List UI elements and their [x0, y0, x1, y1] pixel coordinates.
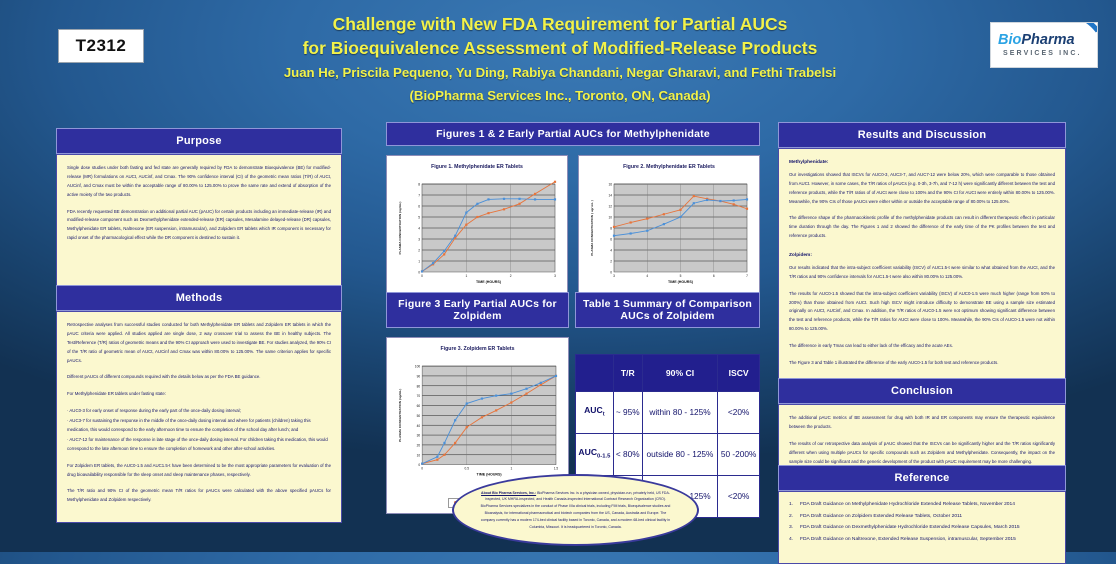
svg-text:6: 6 [713, 274, 715, 278]
logo-wordmark: BioPharma [998, 32, 1075, 48]
svg-text:4: 4 [646, 274, 648, 278]
methods-bullet-2: · AUC3-7 for sustaining the response in … [67, 417, 331, 435]
purpose-panel: Purpose Single dose studies under both f… [56, 128, 342, 293]
results-paragraph-6: The Figure 3 and Table 1 illustrated the… [789, 359, 1055, 368]
svg-text:PLASMA CONCENTRATION (ng/mL): PLASMA CONCENTRATION (ng/mL) [398, 389, 402, 442]
title-block: Challenge with New FDA Requirement for P… [250, 12, 870, 106]
results-panel: Results and Discussion Methylphenidate: … [778, 122, 1066, 411]
svg-text:TIME (HOURS): TIME (HOURS) [477, 473, 503, 477]
svg-text:0: 0 [421, 467, 423, 471]
svg-text:100: 100 [415, 365, 421, 369]
table1-header-tr: T/R [613, 355, 642, 392]
svg-text:4: 4 [418, 227, 420, 231]
svg-text:0: 0 [418, 271, 420, 275]
svg-text:2: 2 [418, 249, 420, 253]
svg-text:PLASMA CONCENTRATION ( ug/ mL: PLASMA CONCENTRATION ( ug/ mL ) [590, 200, 594, 255]
svg-text:6: 6 [418, 205, 420, 209]
reference-item: 4.FDA Draft Guidance on Naltrexone, Exte… [789, 534, 1055, 546]
logo-tagline: SERVICES INC. [1003, 50, 1082, 57]
figure-2-title: Figure 2. Methylphenidate ER Tablets [584, 164, 754, 170]
poster-canvas: T2312 Challenge with New FDA Requirement… [0, 0, 1116, 552]
svg-text:8: 8 [610, 227, 612, 231]
poster-title-line-2: for Bioequivalence Assessment of Modifie… [250, 36, 870, 60]
table-header-row: T/R 90% CI ISCV [576, 355, 760, 392]
svg-text:40: 40 [417, 424, 421, 428]
svg-text:4: 4 [610, 249, 612, 253]
svg-text:3: 3 [613, 274, 615, 278]
methods-panel: Methods Retrospective analyses from succ… [56, 285, 342, 523]
purpose-body: Single dose studies under both fasting a… [56, 154, 342, 293]
svg-text:70: 70 [417, 394, 421, 398]
svg-text:16: 16 [608, 183, 612, 187]
results-paragraph-3: Our results indicated that the intra-sub… [789, 264, 1055, 282]
results-heading: Results and Discussion [778, 122, 1066, 148]
reference-item: 3.FDA Draft Guidance on Dexmethylphenida… [789, 522, 1055, 534]
svg-text:0.5: 0.5 [465, 467, 470, 471]
figures-12-heading: Figures 1 & 2 Early Partial AUCs for Met… [386, 122, 760, 146]
svg-text:14: 14 [608, 194, 612, 198]
table-row: AUC0-1.5< 80%outside 80 - 125%50 -200% [576, 434, 760, 476]
methods-paragraph-1: Retrospective analyses from successful s… [67, 321, 331, 365]
reference-heading: Reference [778, 465, 1066, 491]
author-list: Juan He, Priscila Pequeno, Yu Ding, Rabi… [250, 63, 870, 83]
results-subheading-zolpidem: Zolpidem: [789, 251, 1055, 261]
figure-3-plot: 010203040506070809010000.511.5TIME (HOUR… [392, 354, 563, 495]
svg-text:5: 5 [680, 274, 682, 278]
reference-text: FDA Draft Guidance on Zolpidem Extended … [800, 511, 962, 523]
figure-2-svg: 024681012141634567TIME (HOURS)PLASMA CON… [584, 172, 754, 302]
reference-number: 4. [789, 534, 796, 546]
results-paragraph-1: Our investigations showed that ISCVs for… [789, 171, 1055, 207]
svg-text:10: 10 [608, 216, 612, 220]
svg-text:1: 1 [418, 260, 420, 264]
reference-item: 2.FDA Draft Guidance on Zolpidem Extende… [789, 511, 1055, 523]
reference-text: FDA Draft Guidance on Dexmethylphenidate… [800, 522, 1020, 534]
svg-text:1.5: 1.5 [554, 467, 559, 471]
table1-cell-iscv: <20% [718, 476, 760, 518]
poster-title-line-1: Challenge with New FDA Requirement for P… [250, 12, 870, 36]
table1-header-ci: 90% CI [642, 355, 718, 392]
affiliation: (BioPharma Services Inc., Toronto, ON, C… [250, 86, 870, 106]
methods-paragraph-3: For Methylphenidate ER tablets under fas… [67, 390, 331, 399]
figure-3-title: Figure 3. Zolpidem ER Tablets [392, 346, 563, 352]
reference-number: 1. [789, 499, 796, 511]
table1-cell-ci: within 80 - 125% [642, 392, 718, 434]
figure-3-heading: Figure 3 Early Partial AUCs for Zolpidem [386, 292, 569, 328]
purpose-heading: Purpose [56, 128, 342, 154]
svg-text:50: 50 [417, 414, 421, 418]
results-paragraph-4: The results for AUC0-1.5 showed that the… [789, 290, 1055, 334]
table1-cell-iscv: 50 -200% [718, 434, 760, 476]
purpose-paragraph-2: FDA recently requested BE demonstration … [67, 208, 331, 244]
table1-header-iscv: ISCV [718, 355, 760, 392]
methods-heading: Methods [56, 285, 342, 311]
about-title: About Bio Pharma Services, Inc.: [481, 491, 536, 495]
reference-item: 1.FDA Draft Guidance on Methylphenidate … [789, 499, 1055, 511]
svg-text:3: 3 [418, 238, 420, 242]
results-paragraph-2: The difference shape of the pharmacokine… [789, 214, 1055, 241]
methods-closing-2: The T/R ratio and 90% CI of the geometri… [67, 487, 331, 505]
methods-body: Retrospective analyses from successful s… [56, 311, 342, 523]
svg-text:1: 1 [465, 274, 467, 278]
svg-text:90: 90 [417, 375, 421, 379]
svg-text:60: 60 [417, 404, 421, 408]
methods-paragraph-2: Different pAUCs of different compounds r… [67, 373, 331, 382]
table1-cell-tr: ~ 95% [613, 392, 642, 434]
results-subheading-methylphenidate: Methylphenidate: [789, 158, 1055, 168]
reference-text: FDA Draft Guidance on Methylphenidate Hy… [800, 499, 1015, 511]
svg-text:TIME (HOURS): TIME (HOURS) [668, 280, 694, 284]
svg-text:0: 0 [610, 271, 612, 275]
svg-text:0: 0 [421, 274, 423, 278]
svg-text:20: 20 [417, 444, 421, 448]
svg-text:8: 8 [418, 183, 420, 187]
reference-number: 2. [789, 511, 796, 523]
biopharma-logo: BioPharma SERVICES INC. [990, 22, 1098, 68]
svg-text:PLASMA CONCENTRATION (ng/mL): PLASMA CONCENTRATION (ng/mL) [398, 202, 402, 255]
table1-heading: Table 1 Summary of Comparison AUCs of Zo… [575, 292, 760, 328]
table1-row-label: AUCt [576, 392, 614, 434]
svg-text:2: 2 [510, 274, 512, 278]
svg-text:6: 6 [610, 238, 612, 242]
svg-text:7: 7 [746, 274, 748, 278]
svg-text:30: 30 [417, 434, 421, 438]
logo-bio-text: Bio [998, 32, 1021, 48]
conclusion-heading: Conclusion [778, 378, 1066, 404]
figure-3-svg: 010203040506070809010000.511.5TIME (HOUR… [392, 354, 563, 495]
svg-text:1: 1 [510, 467, 512, 471]
conclusion-paragraph-1: The additional pAUC metrics of BE assess… [789, 414, 1055, 432]
table-row: AUCt~ 95%within 80 - 125%<20% [576, 392, 760, 434]
reference-body: 1.FDA Draft Guidance on Methylphenidate … [778, 491, 1066, 564]
figure-1-plot: 0123456780123TIME (HOURS)PLASMA CONCENTR… [392, 172, 562, 302]
reference-panel: Reference 1.FDA Draft Guidance on Methyl… [778, 465, 1066, 564]
poster-number: T2312 [76, 36, 127, 56]
methods-bullet-3: · AUC7-12 for maintenance of the respons… [67, 436, 331, 454]
table1-cell-ci: outside 80 - 125% [642, 434, 718, 476]
svg-text:3: 3 [554, 274, 556, 278]
methods-closing-1: For Zolpidem ER tablets, the AUC0-1.5 an… [67, 462, 331, 480]
svg-text:12: 12 [608, 205, 612, 209]
about-text: BioPharma Services Inc. is a physician o… [481, 491, 671, 529]
poster-number-badge: T2312 [58, 29, 144, 63]
methods-bullet-1: · AUC0-3 for early onset of response dur… [67, 407, 331, 416]
svg-text:TIME (HOURS): TIME (HOURS) [476, 280, 502, 284]
svg-text:2: 2 [610, 260, 612, 264]
figure-2-plot: 024681012141634567TIME (HOURS)PLASMA CON… [584, 172, 754, 302]
svg-text:7: 7 [418, 194, 420, 198]
svg-text:0: 0 [418, 463, 420, 467]
about-company-callout: About Bio Pharma Services, Inc.: BioPhar… [452, 474, 699, 546]
logo-pharma-text: Pharma [1021, 32, 1074, 48]
figure-1-svg: 0123456780123TIME (HOURS)PLASMA CONCENTR… [392, 172, 562, 302]
reference-number: 3. [789, 522, 796, 534]
results-paragraph-5: The difference in early Tmax can lead to… [789, 342, 1055, 351]
reference-text: FDA Draft Guidance on Naltrexone, Extend… [800, 534, 1016, 546]
svg-text:10: 10 [417, 453, 421, 457]
table1-row-label: AUC0-1.5 [576, 434, 614, 476]
table1-cell-tr: < 80% [613, 434, 642, 476]
purpose-paragraph-1: Single dose studies under both fasting a… [67, 164, 331, 200]
figure-1-title: Figure 1. Methylphenidate ER Tablets [392, 164, 562, 170]
svg-text:5: 5 [418, 216, 420, 220]
conclusion-paragraph-2: The results of our retrospective data an… [789, 440, 1055, 467]
table1-corner-cell [576, 355, 614, 392]
table1-head: T/R 90% CI ISCV [576, 355, 760, 392]
table1-cell-iscv: <20% [718, 392, 760, 434]
svg-text:80: 80 [417, 384, 421, 388]
results-body: Methylphenidate: Our investigations show… [778, 148, 1066, 411]
